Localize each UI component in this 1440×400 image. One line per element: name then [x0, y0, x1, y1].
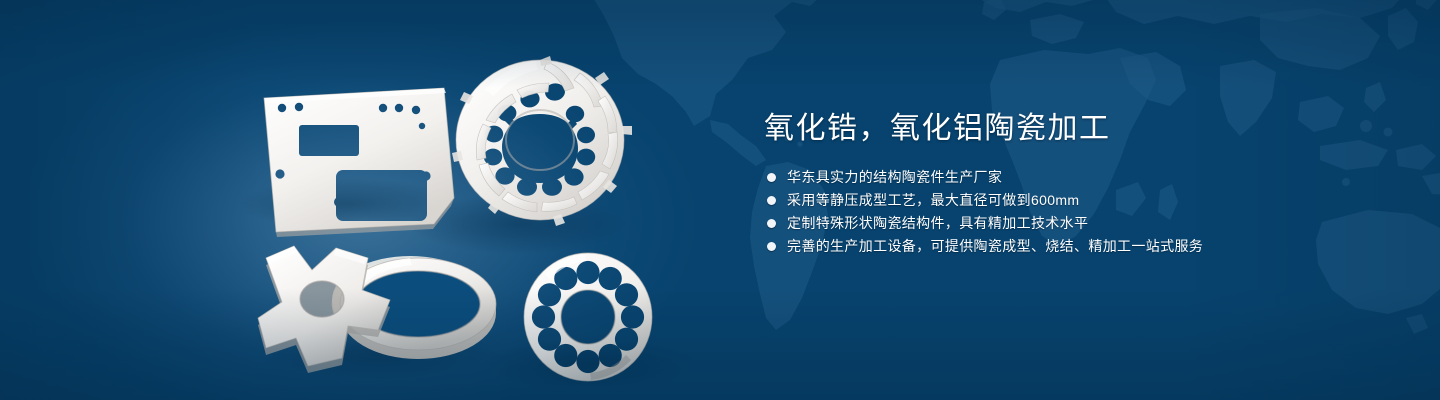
feature-text: 完善的生产加工设备，可提供陶瓷成型、烧结、精加工一站式服务	[787, 235, 1203, 257]
bullet-dot-icon	[767, 173, 776, 182]
feature-list-item: 采用等静压成型工艺，最大直径可做到600mm	[764, 189, 1384, 211]
ceramic-perforated-disc	[524, 253, 652, 381]
feature-list: 华东具实力的结构陶瓷件生产厂家 采用等静压成型工艺，最大直径可做到600mm 定…	[764, 166, 1384, 257]
bullet-dot-icon	[767, 219, 776, 228]
feature-list-item: 华东具实力的结构陶瓷件生产厂家	[764, 166, 1384, 188]
ceramic-processing-banner: 氧化锆，氧化铝陶瓷加工 华东具实力的结构陶瓷件生产厂家 采用等静压成型工艺，最大…	[0, 0, 1440, 400]
ceramic-products-group	[228, 34, 698, 386]
banner-headline: 氧化锆，氧化铝陶瓷加工	[764, 108, 1384, 150]
feature-text: 华东具实力的结构陶瓷件生产厂家	[787, 166, 1002, 188]
feature-text: 采用等静压成型工艺，最大直径可做到600mm	[787, 189, 1079, 211]
ceramic-mounting-plate	[264, 88, 454, 237]
bullet-dot-icon	[767, 242, 776, 251]
feature-text: 定制特殊形状陶瓷结构件，具有精加工技术水平	[787, 212, 1088, 234]
banner-copy: 氧化锆，氧化铝陶瓷加工 华东具实力的结构陶瓷件生产厂家 采用等静压成型工艺，最大…	[764, 108, 1384, 258]
bullet-dot-icon	[767, 196, 776, 205]
feature-list-item: 完善的生产加工设备，可提供陶瓷成型、烧结、精加工一站式服务	[764, 235, 1384, 257]
feature-list-item: 定制特殊形状陶瓷结构件，具有精加工技术水平	[764, 212, 1384, 234]
